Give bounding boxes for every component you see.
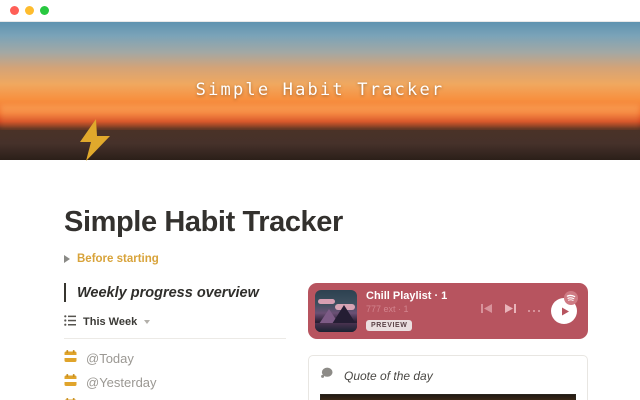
more-options-icon[interactable] (528, 310, 541, 313)
habit-list: @Today @Yesterday (64, 348, 286, 400)
quote-image (320, 394, 576, 400)
spotify-player-card[interactable]: Chill Playlist · 1 777 ext · 1 PREVIEW (308, 283, 588, 339)
zoom-button[interactable] (40, 6, 49, 15)
app-window: Simple Habit Tracker Simple Habit Tracke… (0, 0, 640, 400)
triangle-right-icon[interactable] (64, 255, 70, 263)
lightning-bolt-icon[interactable] (76, 118, 114, 162)
list-item-label: @Today (86, 351, 134, 366)
spotify-logo-icon[interactable] (564, 291, 578, 310)
right-column: Chill Playlist · 1 777 ext · 1 PREVIEW (308, 283, 588, 400)
before-starting-toggle[interactable]: Before starting (64, 253, 640, 265)
album-artwork (315, 290, 357, 332)
weekly-progress-callout: Weekly progress overview (64, 283, 286, 302)
callout-bar (64, 283, 66, 302)
view-selector[interactable]: This Week (64, 313, 286, 339)
title-bar (0, 0, 640, 22)
list-item[interactable]: @Today (64, 348, 286, 369)
page-title: Simple Habit Tracker (64, 206, 640, 239)
chevron-down-icon[interactable] (144, 320, 150, 324)
playlist-title: Chill Playlist · 1 (366, 290, 471, 302)
list-view-icon (64, 313, 76, 331)
view-label: This Week (83, 316, 137, 328)
previous-track-icon[interactable] (480, 302, 493, 320)
speech-bubble-icon (320, 366, 335, 385)
close-button[interactable] (10, 6, 19, 15)
list-item-label: @Yesterday (86, 375, 157, 390)
artwork-mountain (332, 305, 356, 324)
playlist-subtitle: 777 ext · 1 (366, 304, 471, 314)
next-track-icon[interactable] (504, 302, 517, 320)
quote-label: Quote of the day (344, 369, 433, 383)
list-item[interactable]: @Yesterday (64, 372, 286, 393)
left-column: Weekly progress overview This Wee (64, 283, 286, 400)
quote-of-the-day-card[interactable]: Quote of the day (308, 355, 588, 400)
minimize-button[interactable] (25, 6, 34, 15)
quote-header: Quote of the day (320, 366, 576, 385)
artwork-cloud (318, 299, 335, 304)
callout-heading: Weekly progress overview (77, 285, 259, 301)
player-info: Chill Playlist · 1 777 ext · 1 PREVIEW (366, 290, 471, 332)
calendar-icon (64, 374, 77, 392)
cover-title: Simple Habit Tracker (0, 80, 640, 100)
calendar-icon (64, 350, 77, 368)
preview-badge: PREVIEW (366, 320, 412, 331)
page-content: Simple Habit Tracker Before starting Wee… (0, 160, 640, 400)
toggle-label: Before starting (77, 253, 159, 265)
list-item[interactable]: @Monday (64, 396, 286, 400)
artwork-water (315, 323, 357, 332)
columns-layout: Weekly progress overview This Wee (0, 283, 640, 400)
